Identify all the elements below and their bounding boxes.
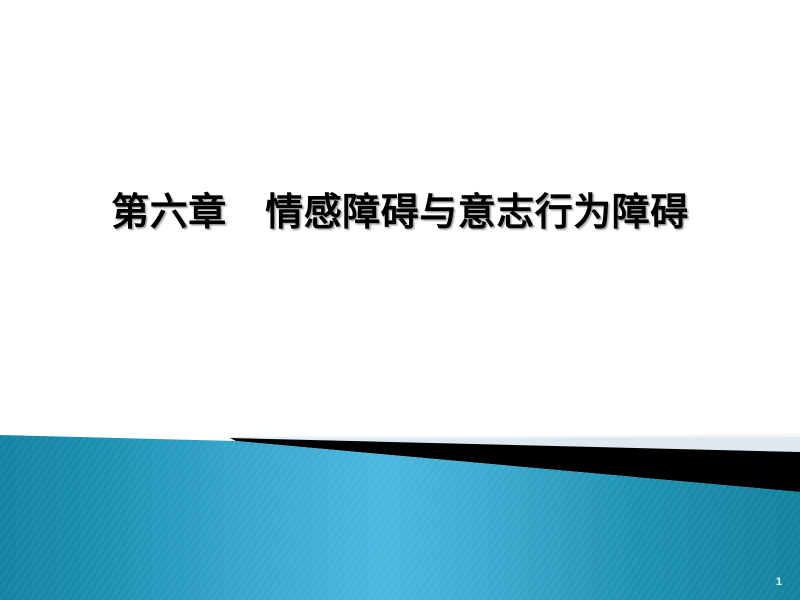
presentation-slide: 第六章 情感障碍与意志行为障碍 bbox=[0, 0, 800, 600]
page-title: 第六章 情感障碍与意志行为障碍 bbox=[111, 192, 689, 236]
title-block: 第六章 情感障碍与意志行为障碍 bbox=[0, 192, 800, 236]
bottom-decorative-graphic bbox=[0, 420, 800, 600]
decorative-wedges-svg bbox=[0, 420, 800, 600]
page-number: 1 bbox=[776, 577, 782, 588]
